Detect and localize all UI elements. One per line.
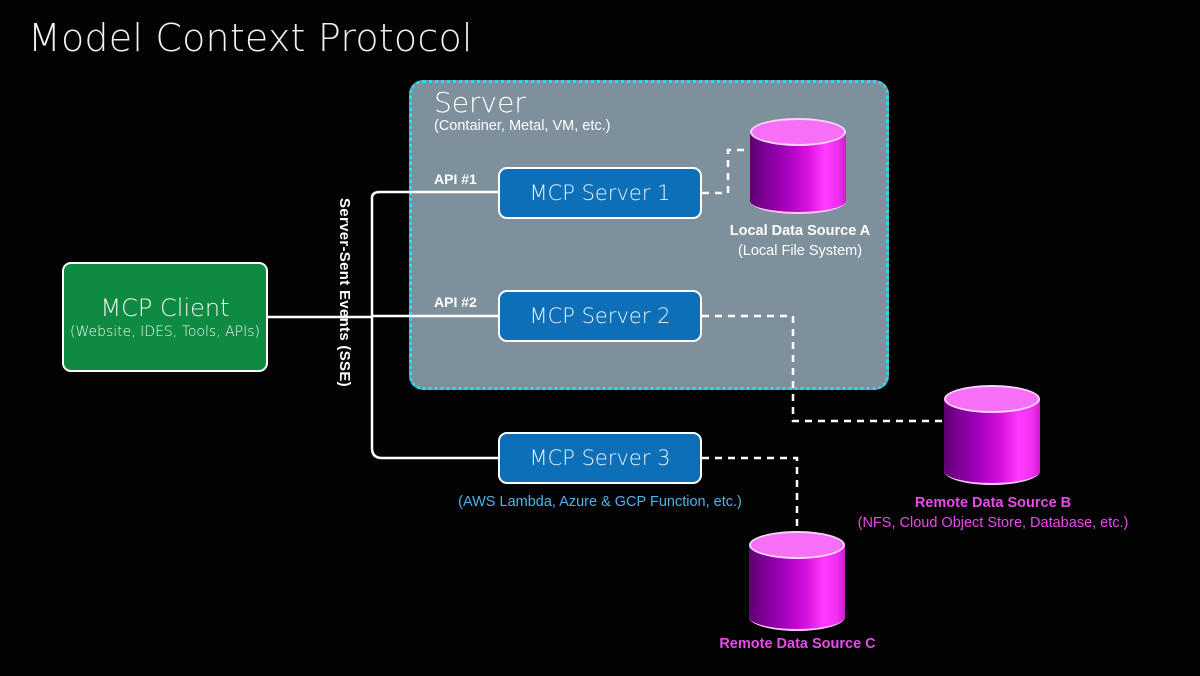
cylinder-top (750, 118, 846, 146)
sse-transport-label: Server-Sent Events (SSE) (329, 198, 353, 438)
diagram-canvas: Model Context Protocol Server (Container… (0, 0, 1200, 676)
server-container-subtitle: (Container, Metal, VM, etc.) (434, 118, 610, 134)
mcp-server-3-label: MCP Server 3 (529, 446, 670, 470)
caption-remote-data-source-b: Remote Data Source B (NFS, Cloud Object … (843, 494, 1143, 533)
mcp-client-title: MCP Client (100, 294, 229, 322)
db-subtitle-remote-b: (NFS, Cloud Object Store, Database, etc.… (843, 514, 1143, 534)
mcp-server-1-node[interactable]: MCP Server 1 (498, 167, 702, 219)
mcp-server-3-caption: (AWS Lambda, Azure & GCP Function, etc.) (440, 494, 760, 510)
mcp-client-node[interactable]: MCP Client (Website, IDES, Tools, APIs) (62, 262, 268, 372)
caption-local-data-source-a: Local Data Source A (Local File System) (690, 222, 910, 261)
database-cylinder-remote-c (749, 531, 845, 631)
database-cylinder-remote-b (944, 385, 1040, 485)
server-container-title: Server (434, 86, 526, 119)
cylinder-bottom (944, 457, 1040, 485)
api-label-2: API #2 (434, 294, 477, 310)
mcp-server-3-node[interactable]: MCP Server 3 (498, 432, 702, 484)
cylinder-top (944, 385, 1040, 413)
cylinder-top (749, 531, 845, 559)
db-name-remote-c: Remote Data Source C (680, 635, 915, 655)
database-cylinder-local-a (750, 118, 846, 214)
mcp-client-subtitle: (Website, IDES, Tools, APIs) (70, 324, 260, 340)
db-name-local-a: Local Data Source A (690, 222, 910, 242)
mcp-server-1-label: MCP Server 1 (529, 181, 670, 205)
api-label-1: API #1 (434, 171, 477, 187)
mcp-server-2-node[interactable]: MCP Server 2 (498, 290, 702, 342)
db-name-remote-b: Remote Data Source B (843, 494, 1143, 514)
page-title: Model Context Protocol (28, 16, 473, 60)
cylinder-bottom (750, 188, 846, 214)
db-subtitle-local-a: (Local File System) (690, 242, 910, 262)
mcp-server-2-label: MCP Server 2 (529, 304, 670, 328)
cylinder-bottom (749, 603, 845, 631)
caption-remote-data-source-c: Remote Data Source C (680, 635, 915, 655)
